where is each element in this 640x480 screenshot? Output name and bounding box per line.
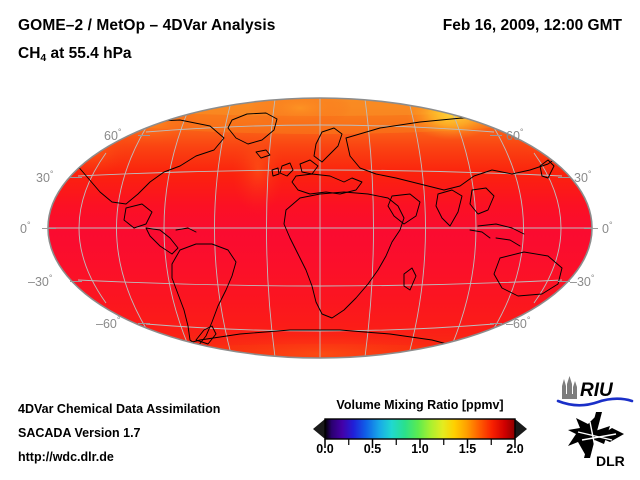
- riu-tower-icon: [562, 376, 577, 399]
- world-map: [0, 78, 640, 378]
- lat-tick-m30-left: [70, 281, 82, 282]
- subtitle-species: CH: [18, 45, 40, 62]
- dlr-wordmark: DLR: [596, 453, 625, 468]
- lat-tick-m60-left: [138, 323, 150, 324]
- lat-label-equator-right: 0°: [602, 220, 613, 236]
- footer-line-url[interactable]: http://wdc.dlr.de: [18, 450, 114, 464]
- footer-line-project: 4DVar Chemical Data Assimilation: [18, 402, 220, 416]
- dlr-logo: DLR: [566, 412, 632, 468]
- riu-logo: RIU: [556, 376, 634, 408]
- lat-tick-60-left: [138, 135, 150, 136]
- colorbar-title: Volume Mixing Ratio [ppmv]: [300, 398, 540, 412]
- colorbar-tick-label-4: 2.0: [506, 442, 523, 456]
- colorbar-tick-label-2: 1.0: [411, 442, 428, 456]
- colorbar-tick-label-0: 0.0: [316, 442, 333, 456]
- lat-label-60-north-left: 60°: [104, 127, 122, 143]
- page-title: GOME–2 / MetOp – 4DVar Analysis: [18, 17, 276, 35]
- colorbar-tick-label-3: 1.5: [459, 442, 476, 456]
- footer-line-version: SACADA Version 1.7: [18, 426, 141, 440]
- lat-tick-m60-right: [490, 323, 502, 324]
- lat-label-30-south-left: ‒30°: [28, 273, 52, 289]
- lat-tick-m30-right: [558, 281, 570, 282]
- lat-label-30-north-left: 30°: [36, 169, 54, 185]
- riu-wordmark: RIU: [580, 380, 614, 401]
- colorbar-tick-label-1: 0.5: [364, 442, 381, 456]
- lat-label-30-north-right: 30°: [574, 169, 592, 185]
- lat-tick-0-right: [584, 228, 598, 229]
- lat-label-60-north-right: 60°: [506, 127, 524, 143]
- lat-tick-30-right: [558, 177, 570, 178]
- lat-tick-0-left: [42, 228, 56, 229]
- page-subtitle: CH4 at 55.4 hPa: [18, 45, 132, 64]
- lat-label-60-south-left: ‒60°: [96, 315, 120, 331]
- map-panel: 60° 60° 30° 30° 0° 0° ‒30° ‒30° ‒60° ‒60…: [0, 78, 640, 378]
- lat-label-60-south-right: ‒60°: [506, 315, 530, 331]
- lat-tick-60-right: [490, 135, 502, 136]
- colorbar-cap-right: [515, 419, 527, 439]
- figure-canvas: GOME–2 / MetOp – 4DVar Analysis CH4 at 5…: [0, 0, 640, 480]
- subtitle-level: at 55.4 hPa: [46, 45, 131, 62]
- colorbar-gradient: [325, 419, 515, 439]
- lat-label-30-south-right: ‒30°: [570, 273, 594, 289]
- colorbar: Volume Mixing Ratio [ppmv]: [300, 398, 540, 470]
- lat-label-equator-left: 0°: [20, 220, 31, 236]
- timestamp-label: Feb 16, 2009, 12:00 GMT: [443, 17, 622, 35]
- colorbar-cap-left: [313, 419, 325, 439]
- lat-tick-30-left: [70, 177, 82, 178]
